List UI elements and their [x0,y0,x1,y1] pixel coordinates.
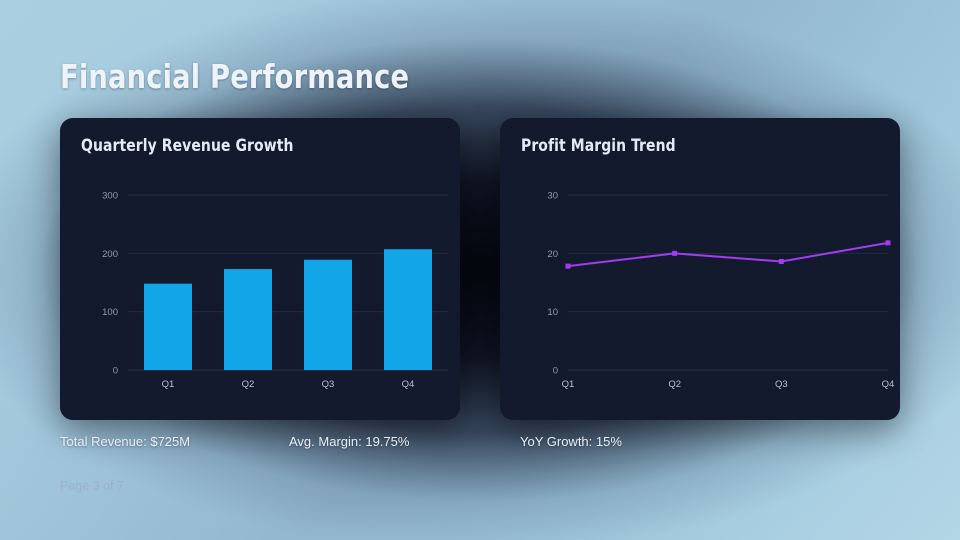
y-axis-tick-label: 0 [113,366,118,377]
x-axis-tick-label: Q1 [162,379,175,390]
bar[interactable] [224,269,272,370]
page-title: Financial Performance [60,57,409,96]
trend-line [568,243,888,266]
data-point-marker[interactable] [886,240,891,245]
data-point-marker[interactable] [566,264,571,269]
card-quarterly-revenue[interactable]: Quarterly Revenue Growth 0100200300Q1Q2Q… [60,118,460,420]
x-axis-tick-label: Q2 [242,379,255,390]
slide-canvas: Financial Performance Quarterly Revenue … [0,0,960,540]
bar-chart-svg: 0100200300Q1Q2Q3Q4 [60,118,460,420]
y-axis-tick-label: 10 [547,307,558,318]
bar[interactable] [304,260,352,370]
bar[interactable] [384,249,432,370]
data-point-marker[interactable] [672,251,677,256]
page-indicator: Page 3 of 7 [60,479,124,493]
y-axis-tick-label: 300 [102,191,118,202]
bar-chart-quarterly-revenue: 0100200300Q1Q2Q3Q4 [60,118,460,420]
x-axis-tick-label: Q2 [668,379,681,390]
x-axis-tick-label: Q4 [402,379,415,390]
line-chart-profit-margin: 0102030Q1Q2Q3Q4 [500,118,900,420]
metric-total-revenue: Total Revenue: $725M [60,434,190,449]
metric-avg-margin: Avg. Margin: 19.75% [289,434,409,449]
card-profit-margin[interactable]: Profit Margin Trend 0102030Q1Q2Q3Q4 [500,118,900,420]
bar[interactable] [144,284,192,370]
y-axis-tick-label: 0 [553,366,558,377]
x-axis-tick-label: Q4 [882,379,895,390]
line-chart-svg: 0102030Q1Q2Q3Q4 [500,118,900,420]
x-axis-tick-label: Q3 [775,379,788,390]
y-axis-tick-label: 30 [547,191,558,202]
x-axis-tick-label: Q1 [562,379,575,390]
x-axis-tick-label: Q3 [322,379,335,390]
y-axis-tick-label: 200 [102,249,118,260]
metric-yoy-growth: YoY Growth: 15% [520,434,622,449]
y-axis-tick-label: 20 [547,249,558,260]
data-point-marker[interactable] [779,259,784,264]
y-axis-tick-label: 100 [102,307,118,318]
